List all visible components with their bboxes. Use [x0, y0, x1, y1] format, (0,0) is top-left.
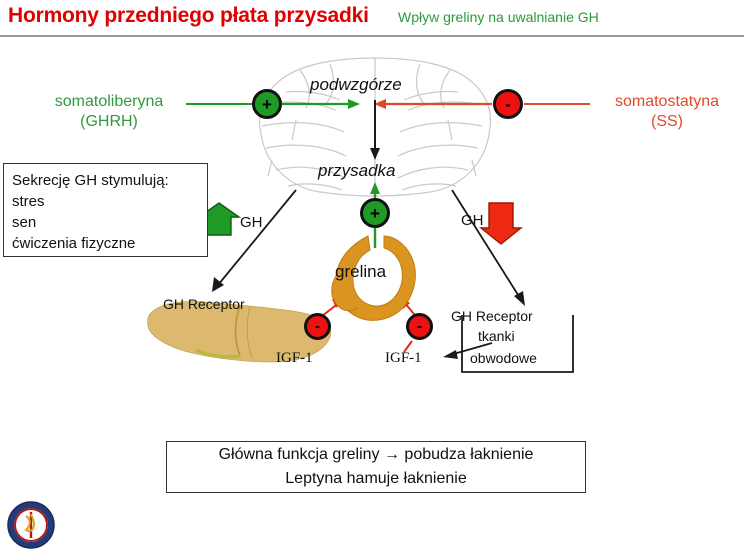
arrow-pituitary-to-liver [212, 190, 296, 292]
somatostatyna-line2: (SS) [594, 112, 740, 132]
gh-stimulation-box: Sekrecję GH stymulują: stres sen ćwiczen… [3, 163, 208, 257]
somatoliberyna-line1: somatoliberyna [34, 92, 184, 112]
node-minus-somatostatin: - [493, 89, 523, 119]
arrow-ghrh-to-hypothalamus [278, 99, 360, 109]
ghrelin-function-box: Główna funkcja greliny → pobudza łaknien… [166, 441, 586, 493]
bottom-line-2: Leptyna hamuje łaknienie [285, 467, 466, 491]
somatoliberyna-line2: (GHRH) [34, 112, 184, 132]
node-minus-igf1-right: - [406, 313, 433, 340]
label-tkanki: tkanki [478, 328, 515, 344]
label-somatostatyna: somatostatyna (SS) [594, 92, 740, 132]
label-podwzgorze: podwzgórze [310, 75, 402, 95]
label-grelina: grelina [335, 262, 386, 282]
university-logo [8, 502, 54, 548]
slide-canvas: Hormony przedniego płata przysadki Wpływ… [0, 0, 744, 560]
stim-line-4: ćwiczenia fizyczne [12, 233, 207, 254]
stim-line-2: stres [12, 191, 207, 212]
arrow-hypothalamus-to-pituitary [370, 100, 380, 160]
stim-line-1: Sekrecję GH stymulują: [12, 170, 207, 191]
label-igf1-left: IGF-1 [276, 350, 313, 367]
node-plus-ghrh: + [252, 89, 282, 119]
gh-decrease-arrow-icon [481, 203, 521, 244]
node-minus-igf1-left: - [304, 313, 331, 340]
somatostatyna-line1: somatostatyna [594, 92, 740, 112]
stim-line-3: sen [12, 212, 207, 233]
label-przysadka: przysadka [318, 161, 395, 181]
node-plus-ghrelin: + [360, 198, 390, 228]
label-somatoliberyna: somatoliberyna (GHRH) [34, 92, 184, 132]
label-obwodowe: obwodowe [470, 350, 537, 366]
label-gh-up: GH [240, 214, 263, 231]
bottom-line-1: Główna funkcja greliny → pobudza łaknien… [219, 443, 534, 467]
arrow-ss-to-hypothalamus [374, 99, 492, 109]
label-gh-receptor-peripheral: GH Receptor [451, 308, 533, 324]
label-gh-down: GH [461, 212, 484, 229]
label-igf1-right: IGF-1 [385, 350, 422, 367]
label-gh-receptor-liver: GH Receptor [163, 296, 245, 312]
